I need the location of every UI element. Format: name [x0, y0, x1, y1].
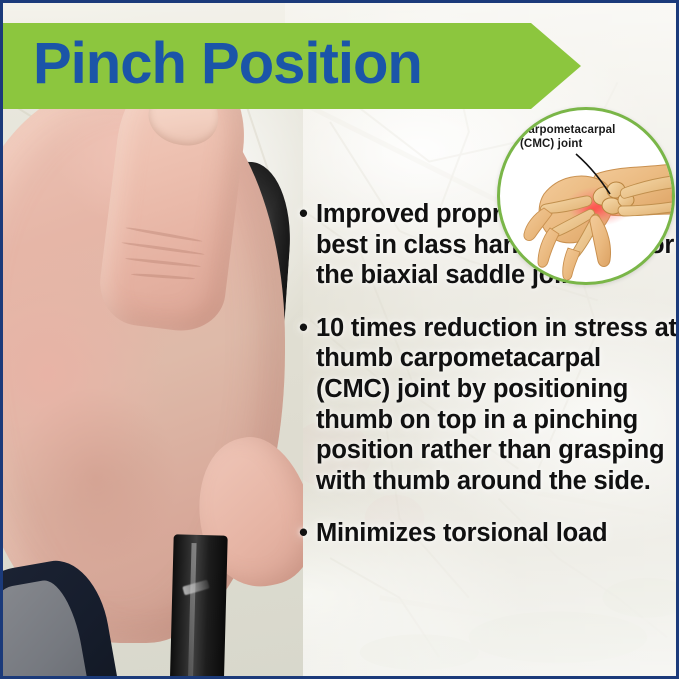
product-photo [3, 65, 303, 679]
inset-label: Carpometacarpal (CMC) joint [520, 123, 615, 151]
bullet-marker-icon: • [299, 518, 316, 549]
trekking-pole-shaft [168, 534, 227, 679]
page-title: Pinch Position [3, 35, 422, 93]
list-item-text: 10 times reduction in stress at thumb ca… [316, 313, 677, 497]
inset-label-line-1: Carpometacarpal [520, 123, 615, 137]
title-banner: Pinch Position [3, 23, 581, 109]
list-item: • Minimizes torsional load [299, 518, 677, 549]
inset-label-line-2: (CMC) joint [520, 137, 615, 151]
infographic-root: Pinch Position [0, 0, 679, 679]
list-item-text: Minimizes torsional load [316, 518, 677, 549]
bullet-marker-icon: • [299, 313, 316, 497]
cmc-joint-inset: Carpometacarpal (CMC) joint [497, 107, 675, 285]
bullet-marker-icon: • [299, 199, 316, 291]
list-item: • 10 times reduction in stress at thumb … [299, 313, 677, 497]
